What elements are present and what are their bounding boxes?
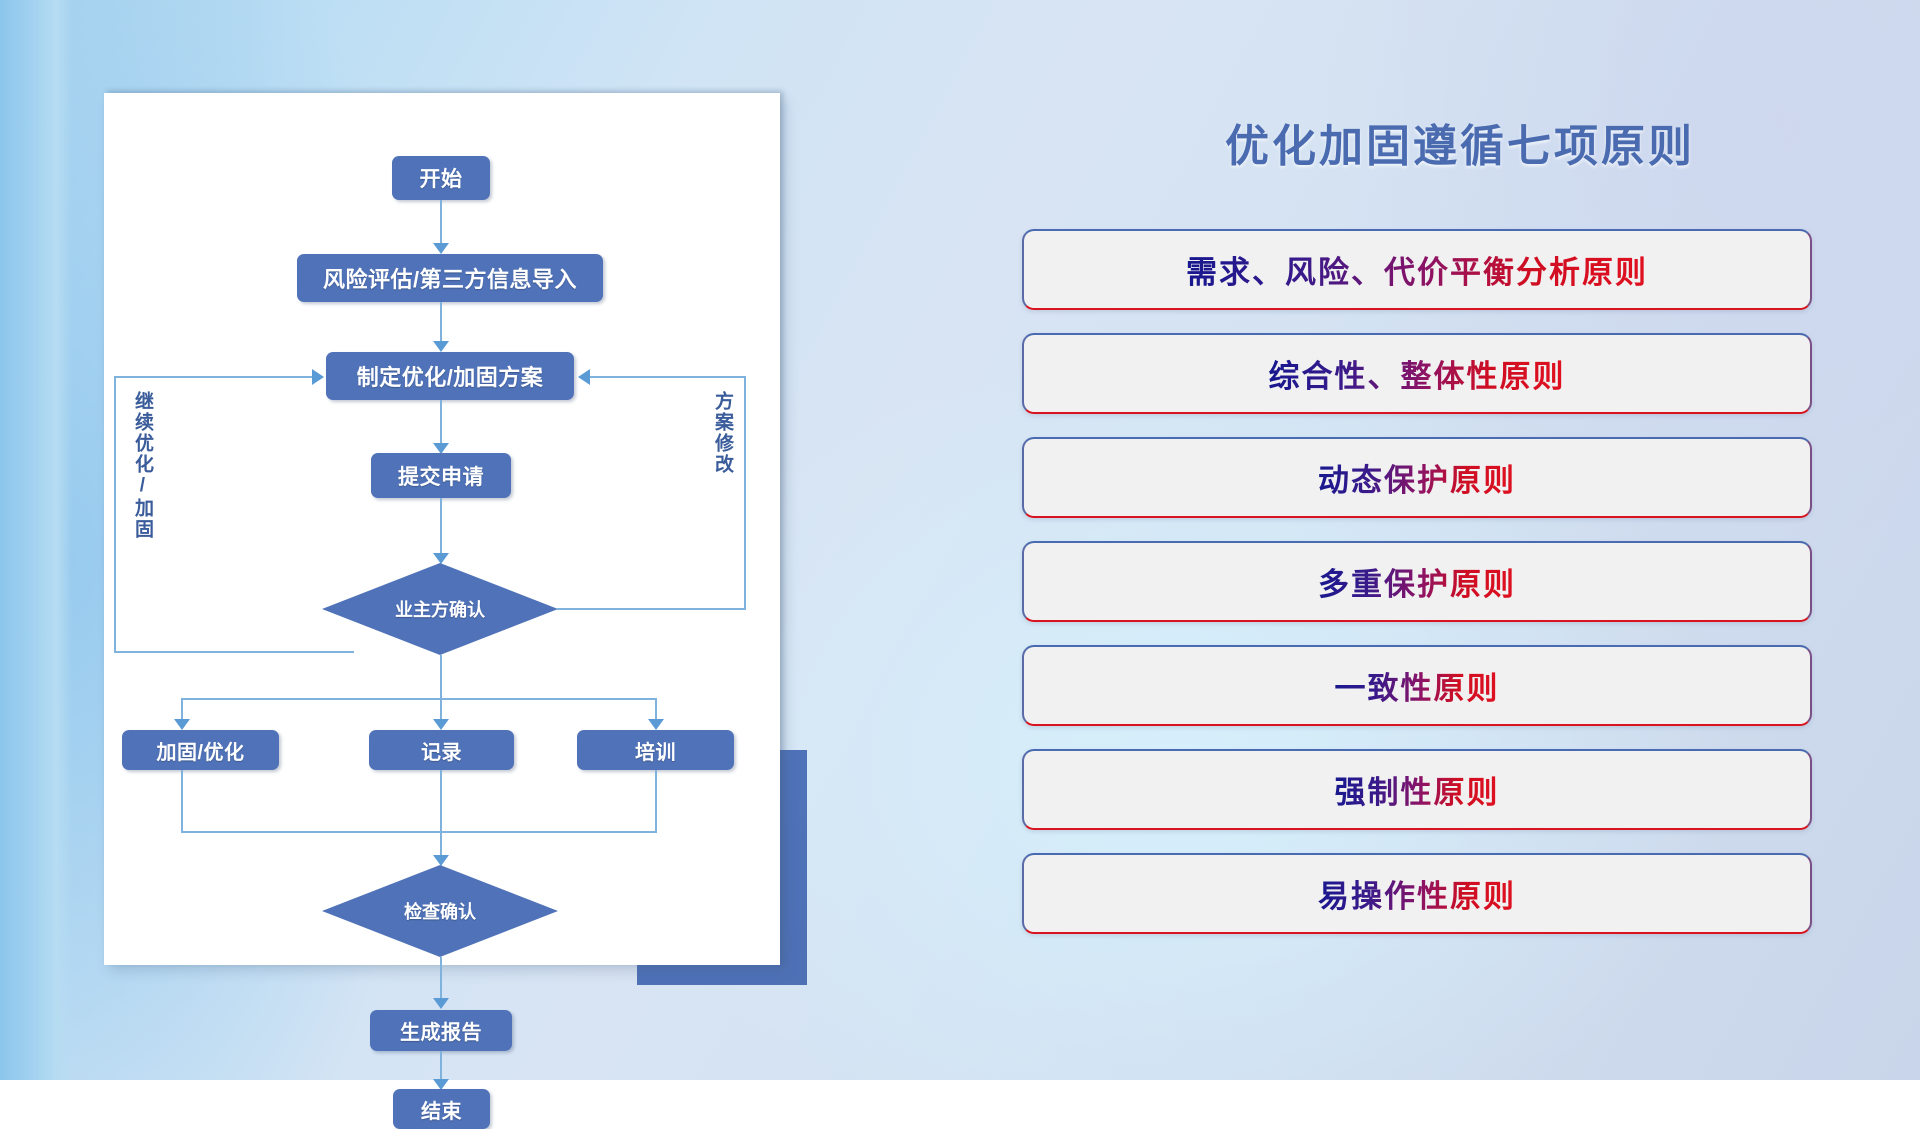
connector-merge-bar xyxy=(181,831,657,833)
connector-right-loop-vertical xyxy=(744,376,746,610)
flow-node-risk-assessment[interactable]: 风险评估/第三方信息导入 xyxy=(297,254,603,302)
arrow-to-train-icon xyxy=(648,719,664,730)
arrow-to-check-icon xyxy=(433,855,449,866)
connector-reinforce-down xyxy=(181,770,183,833)
flow-node-train[interactable]: 培训 xyxy=(577,730,734,770)
flow-node-reinforce[interactable]: 加固/优化 xyxy=(122,730,279,770)
connector-right-loop-top xyxy=(590,376,746,378)
slide-canvas: 开始 风险评估/第三方信息导入 制定优化/加固方案 提交申请 业主方确认 xyxy=(0,0,1920,1080)
arrow-submit-to-owner-icon xyxy=(433,553,449,564)
flow-node-end[interactable]: 结束 xyxy=(393,1089,490,1129)
principle-label-3: 动态保护原则 xyxy=(1318,455,1516,500)
arrow-to-reinforce-icon xyxy=(174,719,190,730)
principle-label-4: 多重保护原则 xyxy=(1318,559,1516,604)
flow-node-owner-confirm[interactable]: 业主方确认 xyxy=(322,563,558,655)
principle-card-7[interactable]: 易操作性原则 xyxy=(1022,853,1812,934)
connector-submit-to-owner xyxy=(440,498,442,560)
principle-label-6: 强制性原则 xyxy=(1335,767,1500,812)
flowchart-canvas: 开始 风险评估/第三方信息导入 制定优化/加固方案 提交申请 业主方确认 xyxy=(104,93,780,965)
flowchart-card: 开始 风险评估/第三方信息导入 制定优化/加固方案 提交申请 业主方确认 xyxy=(104,93,780,965)
flow-node-submit[interactable]: 提交申请 xyxy=(371,453,511,498)
principle-card-1[interactable]: 需求、风险、代价平衡分析原则 xyxy=(1022,229,1812,310)
principles-list: 需求、风险、代价平衡分析原则 综合性、整体性原则 动态保护原则 多重保护原则 一… xyxy=(1022,229,1812,957)
connector-left-loop-top xyxy=(114,376,314,378)
principle-card-5[interactable]: 一致性原则 xyxy=(1022,645,1812,726)
edge-label-continue-optimize: 继续优化/加固 xyxy=(132,391,152,540)
connector-right-loop-bottom xyxy=(556,608,746,610)
principle-label-1: 需求、风险、代价平衡分析原则 xyxy=(1186,247,1648,292)
arrow-check-to-report-icon xyxy=(433,998,449,1009)
principle-label-2: 综合性、整体性原则 xyxy=(1269,351,1566,396)
flow-node-record[interactable]: 记录 xyxy=(369,730,514,770)
connector-owner-down xyxy=(440,655,442,700)
arrow-start-to-risk-icon xyxy=(433,243,449,254)
principle-card-3[interactable]: 动态保护原则 xyxy=(1022,437,1812,518)
principle-label-5: 一致性原则 xyxy=(1335,663,1500,708)
connector-record-down xyxy=(440,770,442,833)
flow-node-check-confirm[interactable]: 检查确认 xyxy=(322,865,558,957)
principle-card-2[interactable]: 综合性、整体性原则 xyxy=(1022,333,1812,414)
arrow-to-record-icon xyxy=(433,719,449,730)
arrow-left-loop-to-plan-icon xyxy=(312,369,324,385)
principle-card-4[interactable]: 多重保护原则 xyxy=(1022,541,1812,622)
connector-fanout-top xyxy=(181,698,657,700)
principle-label-7: 易操作性原则 xyxy=(1318,871,1516,916)
flow-node-report[interactable]: 生成报告 xyxy=(370,1010,512,1051)
edge-label-plan-revision: 方案修改 xyxy=(712,391,732,475)
arrow-right-loop-to-plan-icon xyxy=(578,369,590,385)
flow-node-start[interactable]: 开始 xyxy=(392,156,490,200)
arrow-risk-to-plan-icon xyxy=(433,341,449,352)
flow-node-plan[interactable]: 制定优化/加固方案 xyxy=(326,352,574,400)
connector-train-down xyxy=(655,770,657,833)
principle-card-6[interactable]: 强制性原则 xyxy=(1022,749,1812,830)
connector-left-loop-bottom xyxy=(114,651,354,653)
panel-title: 优化加固遵循七项原则 xyxy=(1140,110,1780,174)
connector-left-loop-vertical xyxy=(114,376,116,653)
